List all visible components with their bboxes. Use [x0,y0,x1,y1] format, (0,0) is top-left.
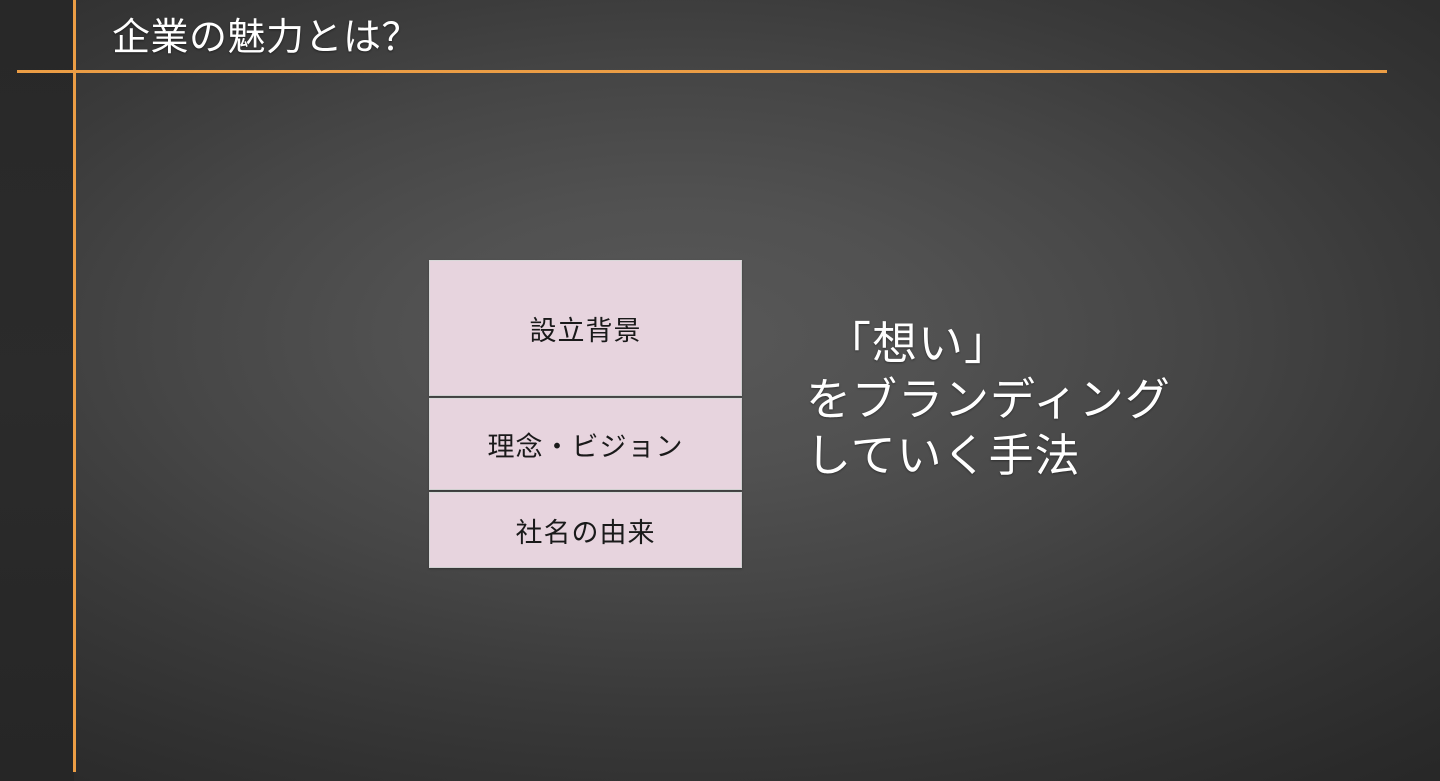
stack-box-label: 社名の由来 [516,511,656,550]
callout-text-block: 「想い」 をブランディング していく手法 [806,316,1171,484]
callout-line-3: していく手法 [806,428,1171,484]
page-title: 企業の魅力とは？ [112,13,420,63]
stacked-box-group: 設立背景 理念・ビジョン 社名の由来 [429,260,742,568]
callout-line-1: 「想い」 [806,316,1171,372]
callout-line-2: をブランディング [806,372,1171,428]
stack-box-label: 設立背景 [530,309,642,348]
stack-box-establishment-background[interactable]: 設立背景 [429,260,742,396]
slide-canvas: 企業の魅力とは？ 設立背景 理念・ビジョン 社名の由来 「想い」 をブランディン… [0,0,1440,781]
horizontal-accent-rule [17,70,1387,73]
left-margin-band [0,0,74,781]
stack-box-label: 理念・ビジョン [488,425,684,464]
stack-box-philosophy-vision[interactable]: 理念・ビジョン [429,398,742,490]
stack-box-company-name-origin[interactable]: 社名の由来 [429,492,742,568]
vertical-accent-rule [73,0,76,772]
